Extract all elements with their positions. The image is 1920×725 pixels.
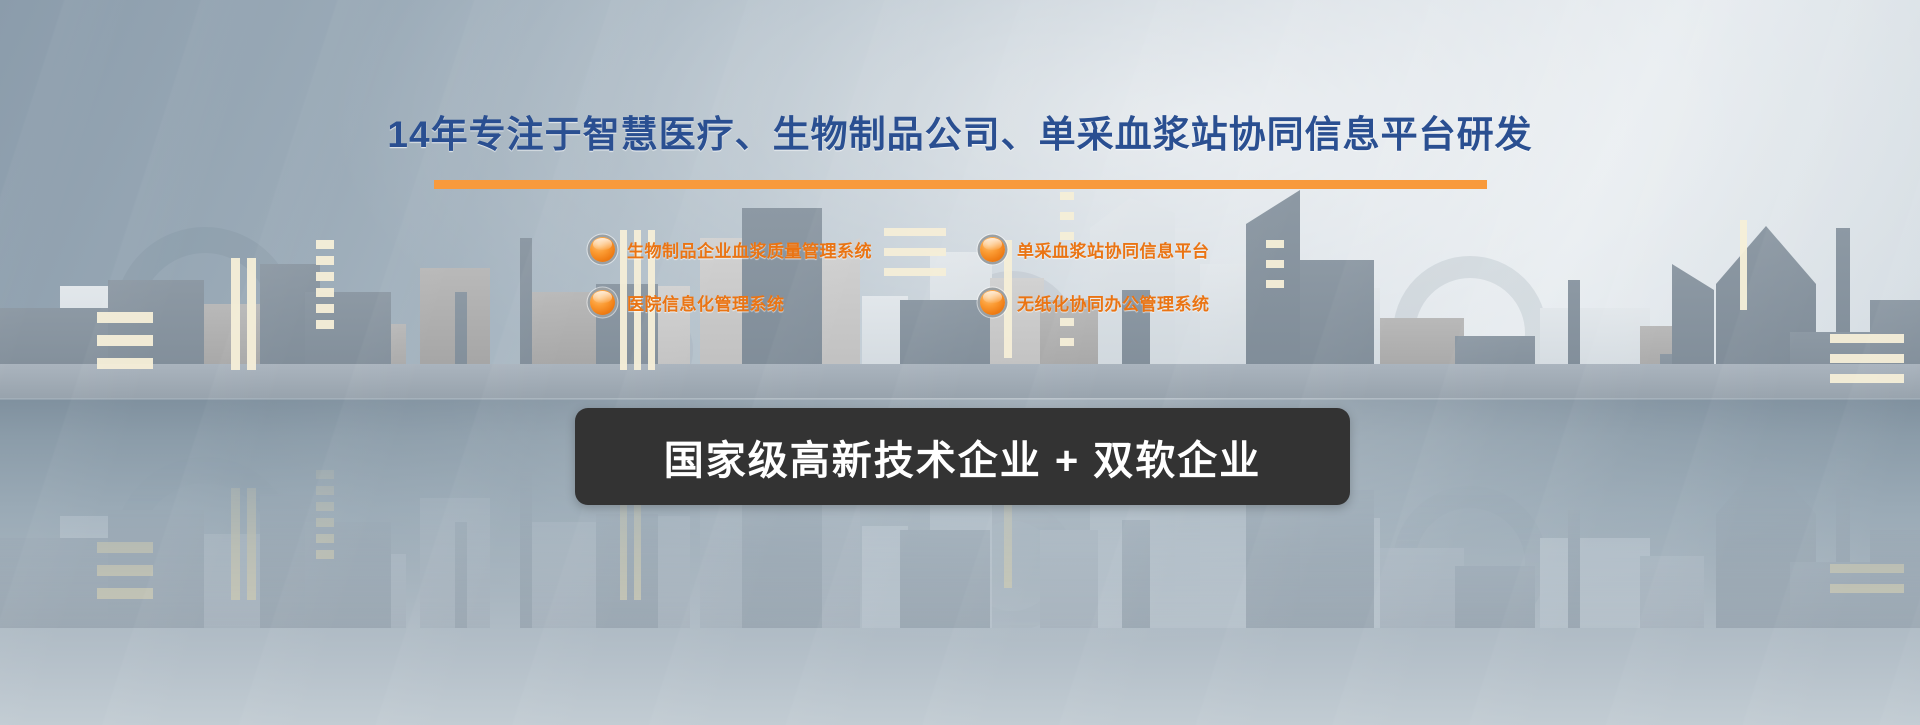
feature-item-label: 生物制品企业血浆质量管理系统 [627,237,872,262]
feature-item-plasma-quality[interactable]: 生物制品企业血浆质量管理系统 [590,228,980,270]
feature-item-label: 单采血浆站协同信息平台 [1017,237,1210,262]
feature-item-hospital-information[interactable]: 医院信息化管理系统 [590,281,980,323]
banner-content: 14年专注于智慧医疗、生物制品公司、单采血浆站协同信息平台研发 生物制品企业血浆… [0,0,1920,725]
orange-sphere-bullet-icon [980,237,1005,262]
orange-sphere-bullet-icon [590,237,615,262]
certification-badge: 国家级高新技术企业 + 双软企业 [575,408,1350,505]
hero-banner: 14年专注于智慧医疗、生物制品公司、单采血浆站协同信息平台研发 生物制品企业血浆… [0,0,1920,725]
feature-row-2: 医院信息化管理系统 无纸化协同办公管理系统 [590,281,1330,334]
headline-underline-rule [434,180,1487,189]
feature-item-paperless-office[interactable]: 无纸化协同办公管理系统 [980,281,1330,323]
feature-item-label: 无纸化协同办公管理系统 [1017,290,1210,315]
certification-badge-text: 国家级高新技术企业 + 双软企业 [664,428,1262,486]
orange-sphere-bullet-icon [980,290,1005,315]
feature-row-1: 生物制品企业血浆质量管理系统 单采血浆站协同信息平台 [590,228,1330,281]
feature-item-plasma-station-platform[interactable]: 单采血浆站协同信息平台 [980,228,1330,270]
banner-headline: 14年专注于智慧医疗、生物制品公司、单采血浆站协同信息平台研发 [0,104,1920,158]
feature-list: 生物制品企业血浆质量管理系统 单采血浆站协同信息平台 医院信息化管理系统 无纸化… [590,228,1330,334]
orange-sphere-bullet-icon [590,290,615,315]
feature-item-label: 医院信息化管理系统 [627,290,785,315]
